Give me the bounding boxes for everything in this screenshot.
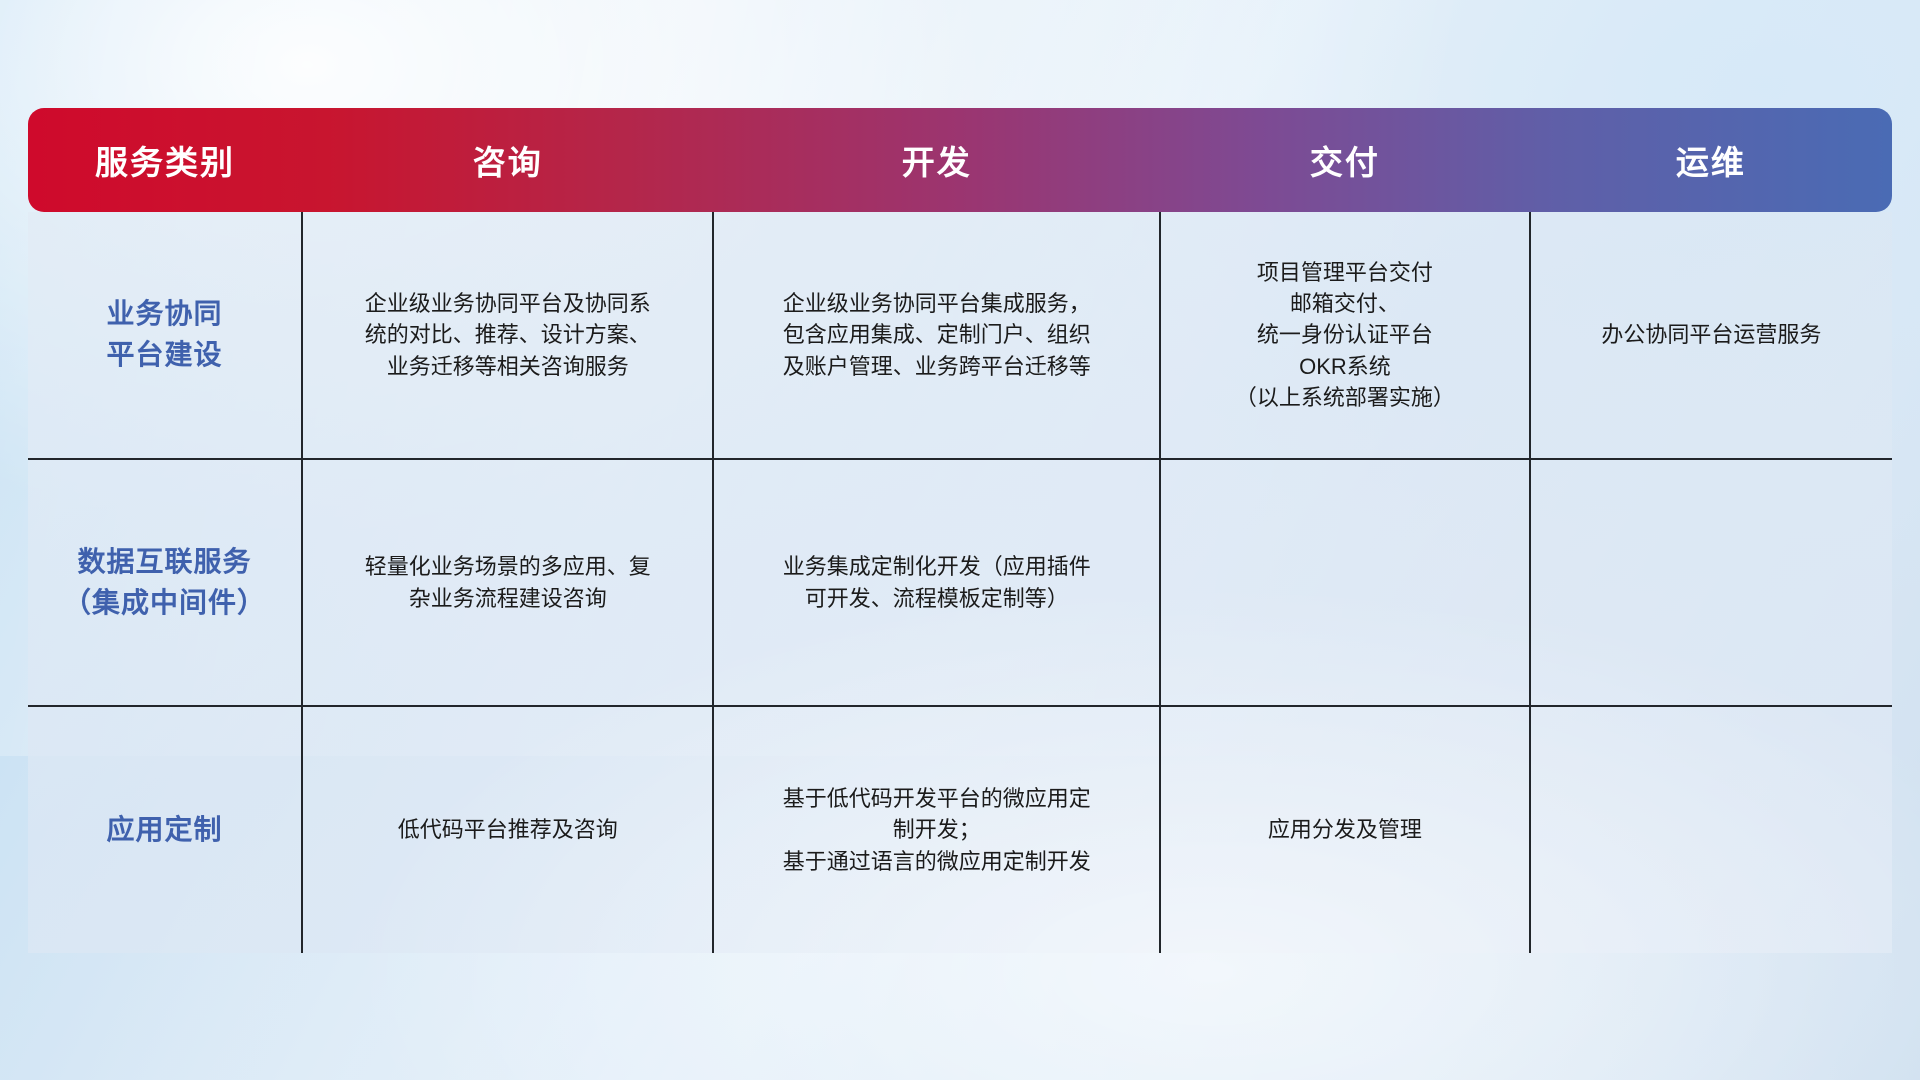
row-category-label: 应用定制 (28, 706, 302, 953)
service-matrix-table: 服务类别 咨询 开发 交付 运维 (28, 108, 1892, 953)
cell-consulting: 企业级业务协同平台及协同系 统的对比、推荐、设计方案、 业务迁移等相关咨询服务 (302, 212, 713, 459)
row-category-label: 业务协同 平台建设 (28, 212, 302, 459)
column-header-development-label: 开发 (713, 136, 1160, 184)
header-row: 服务类别 咨询 开发 交付 运维 (28, 108, 1892, 212)
cell-delivery: 项目管理平台交付 邮箱交付、 统一身份认证平台 OKR系统 （以上系统部署实施） (1160, 212, 1529, 459)
cell-operations: 办公协同平台运营服务 (1530, 212, 1892, 459)
table-row: 业务协同 平台建设 企业级业务协同平台及协同系 统的对比、推荐、设计方案、 业务… (28, 212, 1892, 459)
column-header-category: 服务类别 (28, 108, 302, 212)
cell-operations (1530, 459, 1892, 706)
row-category-label: 数据互联服务 （集成中间件） (28, 459, 302, 706)
service-matrix-table-wrapper: 服务类别 咨询 开发 交付 运维 (28, 108, 1892, 953)
column-header-category-label: 服务类别 (28, 136, 302, 184)
cell-operations (1530, 706, 1892, 953)
table-body: 业务协同 平台建设 企业级业务协同平台及协同系 统的对比、推荐、设计方案、 业务… (28, 212, 1892, 953)
cell-development: 基于低代码开发平台的微应用定 制开发； 基于通过语言的微应用定制开发 (713, 706, 1160, 953)
column-header-consulting-label: 咨询 (302, 136, 713, 184)
slide-canvas: 服务类别 咨询 开发 交付 运维 (0, 0, 1920, 1080)
table-header: 服务类别 咨询 开发 交付 运维 (28, 108, 1892, 212)
table-row: 应用定制 低代码平台推荐及咨询 基于低代码开发平台的微应用定 制开发； 基于通过… (28, 706, 1892, 953)
cell-consulting: 轻量化业务场景的多应用、复 杂业务流程建设咨询 (302, 459, 713, 706)
cell-delivery: 应用分发及管理 (1160, 706, 1529, 953)
cell-delivery (1160, 459, 1529, 706)
cell-development: 企业级业务协同平台集成服务， 包含应用集成、定制门户、组织 及账户管理、业务跨平… (713, 212, 1160, 459)
cell-development: 业务集成定制化开发（应用插件 可开发、流程模板定制等） (713, 459, 1160, 706)
column-header-delivery-label: 交付 (1160, 136, 1529, 184)
table-row: 数据互联服务 （集成中间件） 轻量化业务场景的多应用、复 杂业务流程建设咨询 业… (28, 459, 1892, 706)
column-header-operations-label: 运维 (1530, 136, 1892, 184)
cell-consulting: 低代码平台推荐及咨询 (302, 706, 713, 953)
